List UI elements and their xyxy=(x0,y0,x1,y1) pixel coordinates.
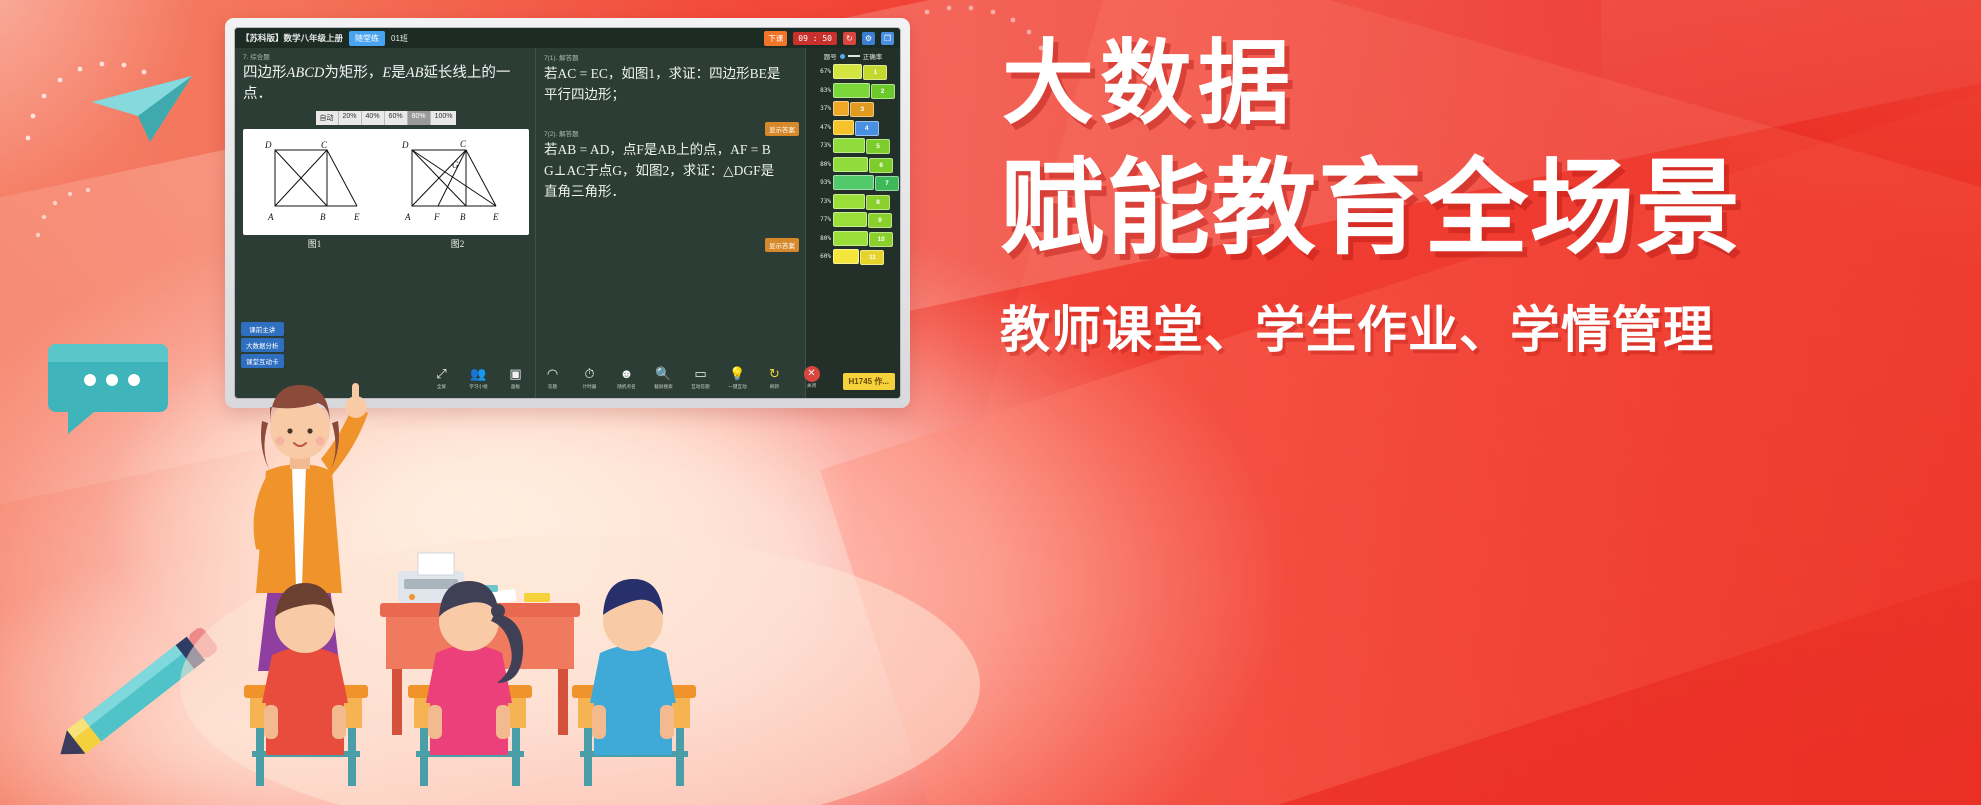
q-italic-1: ABCD xyxy=(287,65,325,81)
bar-fill: 3 xyxy=(833,101,849,116)
svg-text:G: G xyxy=(452,160,459,170)
bar-category-label: 3 xyxy=(850,102,874,117)
svg-text:E: E xyxy=(353,212,360,222)
bar-category-label: 7 xyxy=(875,176,899,191)
question-type-label: 7. 综合题 xyxy=(243,51,529,61)
bar-fill: 4 xyxy=(833,120,854,135)
svg-text:A: A xyxy=(267,212,274,222)
q-italic-3: AB xyxy=(406,65,424,81)
svg-text:D: D xyxy=(401,140,409,150)
q-part-3: 是 xyxy=(391,65,406,81)
svg-text:A: A xyxy=(404,212,411,222)
paper-plane-icon xyxy=(88,72,198,146)
bar-value-label: 47% xyxy=(808,124,833,131)
bar-value-label: 37% xyxy=(808,105,833,112)
dotted-arc-decoration-2 xyxy=(30,165,140,255)
bar-category-label: 6 xyxy=(869,158,893,173)
window-icon[interactable]: ❐ xyxy=(881,32,894,45)
q-italic-2: E xyxy=(382,65,391,81)
bar-value-label: 83% xyxy=(808,87,833,94)
class-label: 01班 xyxy=(391,33,408,44)
sub-question-2-label: 7(2). 解答题 xyxy=(544,128,799,138)
chart-bar-row: 77%9 xyxy=(808,211,898,228)
svg-text:B: B xyxy=(320,212,326,222)
bar-category-label: 1 xyxy=(863,65,887,80)
figure-1-diagram: DC ABE xyxy=(257,134,377,230)
svg-text:B: B xyxy=(460,212,466,222)
bar-category-label: 9 xyxy=(868,213,892,228)
headline-primary: 大数据 xyxy=(1002,38,1960,130)
q-part-1: 四边形 xyxy=(243,65,287,81)
headline-secondary: 赋能教育全场景 xyxy=(1000,156,1960,260)
chart-bar-row: 80%6 xyxy=(808,156,898,173)
bar-fill: 5 xyxy=(833,138,865,153)
bar-value-label: 67% xyxy=(808,68,833,75)
zoom-option-auto[interactable]: 自动 xyxy=(316,111,339,125)
svg-text:C: C xyxy=(321,140,328,150)
zoom-option-40[interactable]: 40% xyxy=(362,111,385,125)
bar-value-label: 80% xyxy=(808,235,833,242)
q1-line-2: 平行四边形； xyxy=(544,85,799,106)
accuracy-bar-list: 67%183%237%347%473%580%693%773%877%980%1… xyxy=(808,63,898,265)
bar-fill: 9 xyxy=(833,212,867,227)
figure-2-diagram: DCG AFBE xyxy=(396,134,516,230)
chart-bar-row: 80%10 xyxy=(808,230,898,247)
bar-value-label: 77% xyxy=(808,216,833,223)
chart-bar-row: 47%4 xyxy=(808,119,898,136)
sub-question-1-label: 7(1). 解答题 xyxy=(544,52,799,62)
subheadline: 教师课堂、学生作业、学情管理 xyxy=(1000,290,1960,362)
gear-icon[interactable]: ⚙ xyxy=(862,32,875,45)
countdown-timer: 09 : 50 xyxy=(793,32,837,45)
zoom-option-80[interactable]: 80% xyxy=(408,111,431,125)
bar-fill: 6 xyxy=(833,157,868,172)
geometry-figures: DC ABE DCG xyxy=(243,129,529,235)
bar-category-label: 5 xyxy=(866,139,890,154)
chart-bar-row: 37%3 xyxy=(808,100,898,117)
class-status-badge[interactable]: 下课 xyxy=(764,31,787,46)
sub-question-2-text: 若AB = AD，点F是AB上的点，AF = B G⊥AC于点G，如图2，求证：… xyxy=(544,140,799,203)
svg-text:C: C xyxy=(460,139,467,149)
bar-category-label: 8 xyxy=(866,195,890,210)
q2-line-1: 若AB = AD，点F是AB上的点，AF = B xyxy=(544,140,799,161)
figure-captions: 图1 图2 xyxy=(243,237,529,250)
figure-1-caption: 图1 xyxy=(308,237,322,250)
chart-bar-row: 73%5 xyxy=(808,137,898,154)
chart-bar-row: 73%8 xyxy=(808,193,898,210)
promo-banner: 大数据 赋能教育全场景 教师课堂、学生作业、学情管理 【苏科版】数学八年级上册 … xyxy=(0,0,1981,805)
bar-category-label: 10 xyxy=(869,232,893,247)
svg-text:F: F xyxy=(433,212,440,222)
headline-block: 大数据 赋能教育全场景 教师课堂、学生作业、学情管理 xyxy=(1000,38,1960,362)
app-topbar: 【苏科版】数学八年级上册 随堂练 01班 下课 09 : 50 ↻ ⚙ ❐ xyxy=(235,28,900,48)
bar-value-label: 80% xyxy=(808,161,833,168)
bar-fill: 2 xyxy=(833,83,870,98)
bar-fill: 10 xyxy=(833,231,868,246)
chart-legend: 题号 正确率 xyxy=(808,51,898,61)
zoom-option-20[interactable]: 20% xyxy=(339,111,362,125)
chart-bar-row: 83%2 xyxy=(808,82,898,99)
legend-label-question: 题号 xyxy=(824,51,837,61)
figure-2-caption: 图2 xyxy=(451,237,465,250)
bar-value-label: 73% xyxy=(808,198,833,205)
refresh-icon[interactable]: ↻ xyxy=(843,32,856,45)
zoom-option-60[interactable]: 60% xyxy=(385,111,408,125)
show-answer-button-2[interactable]: 显示答案 xyxy=(765,238,799,252)
bar-value-label: 93% xyxy=(808,179,833,186)
zoom-level-selector[interactable]: 自动 20% 40% 60% 80% 100% xyxy=(243,111,529,125)
chart-bar-row: 93%7 xyxy=(808,174,898,191)
sub-question-1-text: 若AC = EC，如图1，求证：四边形BE是 平行四边形； xyxy=(544,64,799,106)
q1-line-1: 若AC = EC，如图1，求证：四边形BE是 xyxy=(544,64,799,85)
chart-bar-row: 67%1 xyxy=(808,63,898,80)
textbook-title: 【苏科版】数学八年级上册 xyxy=(241,32,343,44)
bar-category-label: 2 xyxy=(871,84,895,99)
tab-practice[interactable]: 随堂练 xyxy=(349,31,385,46)
bar-fill: 8 xyxy=(833,194,865,209)
bar-value-label: 73% xyxy=(808,142,833,149)
bar-fill: 1 xyxy=(833,64,862,79)
bar-category-label: 4 xyxy=(855,121,879,136)
classroom-illustration xyxy=(180,255,980,805)
zoom-option-100[interactable]: 100% xyxy=(431,111,457,125)
legend-dot-icon xyxy=(840,54,845,59)
q-part-2: 为矩形， xyxy=(324,65,382,81)
q2-line-2: G⊥AC于点G，如图2，求证：△DGF是 xyxy=(544,161,799,182)
bar-fill: 7 xyxy=(833,175,874,190)
chat-bubble-icon xyxy=(48,328,178,448)
legend-label-accuracy: 正确率 xyxy=(863,51,883,61)
svg-text:D: D xyxy=(264,140,272,150)
show-answer-button-1[interactable]: 显示答案 xyxy=(765,122,799,136)
svg-text:E: E xyxy=(492,212,499,222)
legend-line-icon xyxy=(848,55,860,57)
question-stem: 四边形ABCD为矩形，E是AB延长线上的一点． xyxy=(243,63,529,105)
q2-line-3: 直角三角形． xyxy=(544,182,799,203)
